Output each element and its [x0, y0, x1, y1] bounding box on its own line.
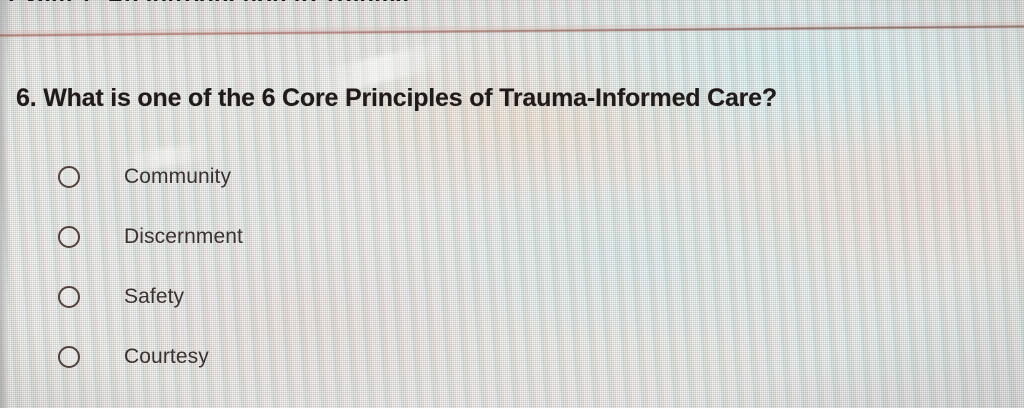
quiz-screen: Exam 1: An Introduction to Trauma... 6. …: [0, 0, 1024, 408]
option-row-safety[interactable]: Safety: [0, 267, 1024, 327]
page-title: Exam 1: An Introduction to Trauma...: [8, 0, 429, 1]
radio-unchecked-icon[interactable]: [58, 166, 80, 188]
option-row-community[interactable]: Community: [0, 147, 1024, 207]
option-label-discernment: Discernment: [124, 225, 243, 249]
radio-unchecked-icon[interactable]: [58, 346, 80, 368]
option-label-courtesy: Courtesy: [124, 345, 209, 369]
option-label-community: Community: [124, 165, 231, 189]
question-text: 6. What is one of the 6 Core Principles …: [16, 84, 777, 113]
option-row-discernment[interactable]: Discernment: [0, 207, 1024, 267]
radio-unchecked-icon[interactable]: [58, 286, 80, 308]
answer-options-list: Community Discernment Safety Courtesy: [0, 147, 1024, 387]
option-label-safety: Safety: [124, 285, 184, 309]
radio-unchecked-icon[interactable]: [58, 226, 80, 248]
option-row-courtesy[interactable]: Courtesy: [0, 327, 1024, 387]
